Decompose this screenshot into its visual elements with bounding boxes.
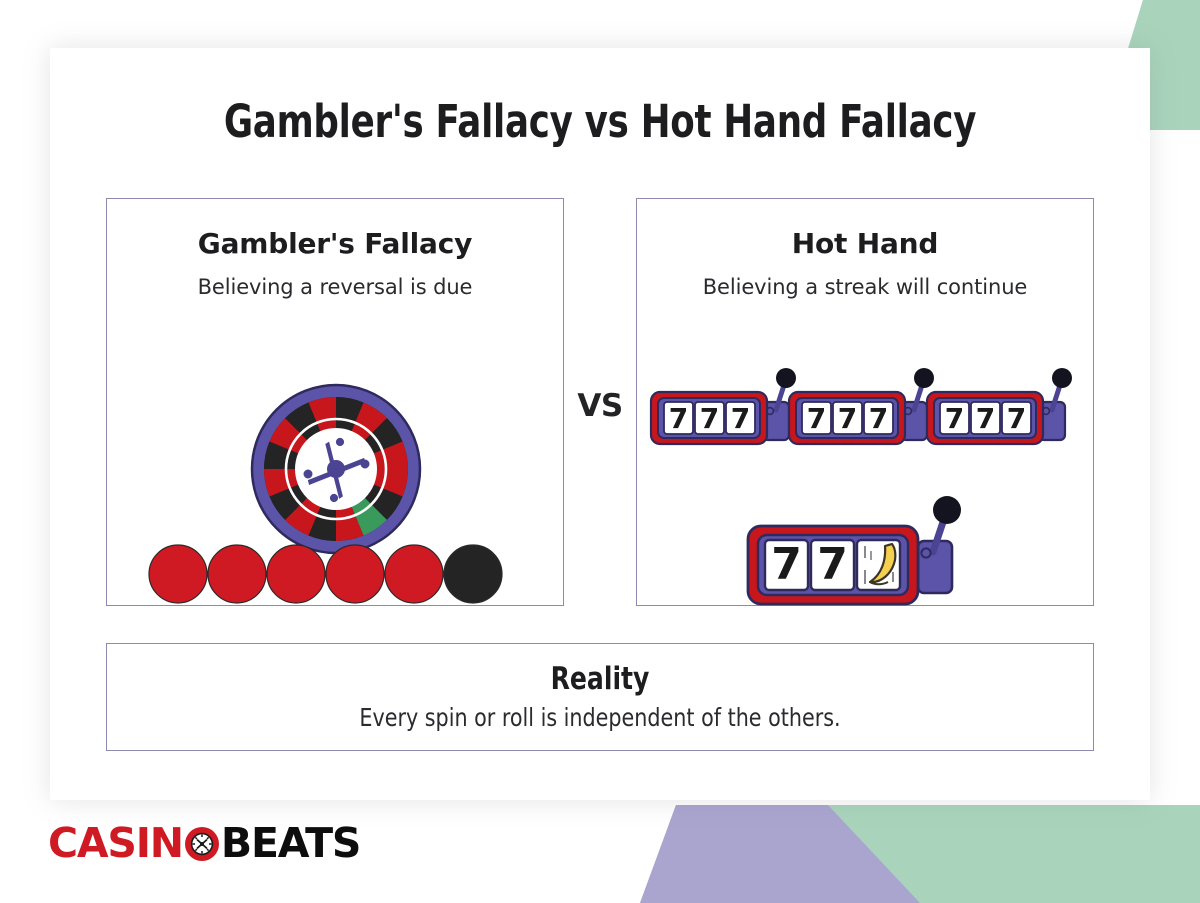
panel-gamblers-fallacy: Gambler's Fallacy Believing a reversal i… <box>106 198 564 606</box>
infographic-canvas: Gambler's Fallacy vs Hot Hand Fallacy Ga… <box>0 0 1200 903</box>
vs-label: VS <box>564 388 636 424</box>
outcome-dot <box>208 545 266 603</box>
outcome-dots-row <box>113 534 559 619</box>
slot-machine-small <box>651 368 796 444</box>
reality-subtitle: Every spin or roll is independent of the… <box>146 703 1053 732</box>
page-title: Gambler's Fallacy vs Hot Hand Fallacy <box>116 95 1084 148</box>
reality-box: Reality Every spin or roll is independen… <box>106 643 1094 751</box>
slot-machine-row: 7 7 7 <box>649 364 1089 479</box>
outcome-dot <box>149 545 207 603</box>
outcome-dot <box>385 545 443 603</box>
outcome-dot <box>267 545 325 603</box>
svg-text:7: 7 <box>817 539 848 590</box>
roulette-wheel-icon <box>184 826 220 867</box>
panel-hot-hand: Hot Hand Believing a streak will continu… <box>636 198 1094 606</box>
slot-machine-large: 7 7 <box>745 494 985 634</box>
panel-subtitle-gamblers-fallacy: Believing a reversal is due <box>107 275 563 299</box>
svg-text:7: 7 <box>771 539 802 590</box>
reality-title: Reality <box>156 661 1043 697</box>
panel-title-gamblers-fallacy: Gambler's Fallacy <box>107 227 563 260</box>
main-card: Gambler's Fallacy vs Hot Hand Fallacy Ga… <box>50 48 1150 800</box>
outcome-dot <box>326 545 384 603</box>
logo-text-casino: CASIN <box>48 823 183 864</box>
slot-machine-small <box>927 368 1072 444</box>
slot-machine-small <box>789 368 934 444</box>
logo-text-beats: BEATS <box>221 823 360 864</box>
brand-logo[interactable]: CASIN <box>48 823 360 864</box>
outcome-dot <box>444 545 502 603</box>
panel-subtitle-hot-hand: Believing a streak will continue <box>637 275 1093 299</box>
panel-title-hot-hand: Hot Hand <box>637 227 1093 260</box>
